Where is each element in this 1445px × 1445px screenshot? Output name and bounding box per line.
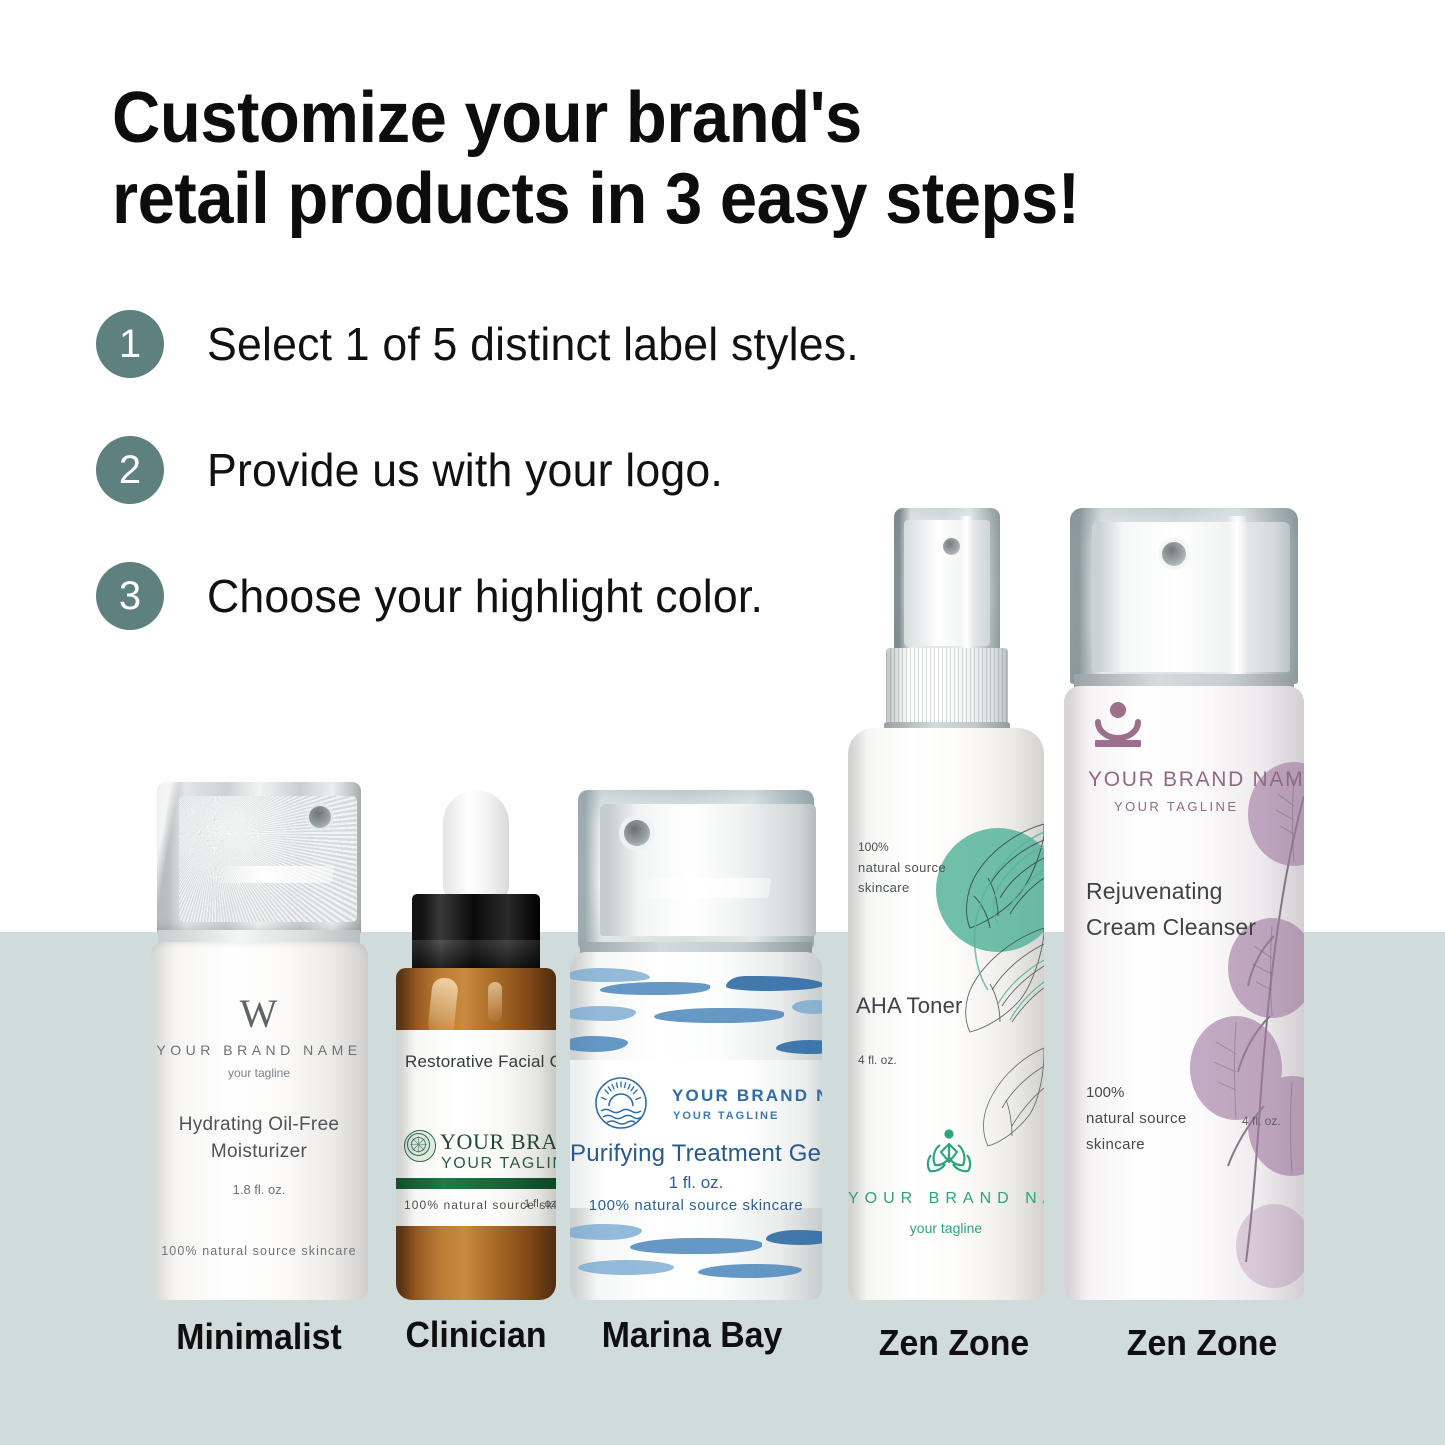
accent-bar (396, 1178, 556, 1189)
nozzle-icon (624, 820, 650, 846)
cap-highlight (1228, 516, 1246, 680)
product-name-line2: Moisturizer (150, 1141, 368, 1163)
claim: 100% natural source skincare (570, 1197, 822, 1214)
sunrise-over-waves-logo (594, 1076, 648, 1130)
brand-name: YOUR BRAND NAME (1088, 768, 1304, 792)
volume: 1 fl. oz. (570, 1173, 822, 1193)
caption-minimalist: Minimalist (176, 1316, 341, 1358)
wave-stroke (570, 1006, 636, 1021)
wave-stroke (698, 1264, 802, 1278)
zen-figure-logo (1088, 702, 1148, 750)
nozzle-icon (309, 806, 331, 828)
claim-line3: skincare (1086, 1136, 1145, 1153)
tagline: your tagline (150, 1066, 368, 1080)
caption-zen-zone: Zen Zone (1127, 1322, 1277, 1364)
wave-stroke (630, 1238, 762, 1254)
product-name-line1: Rejuvenating (1086, 878, 1223, 905)
cap-highlight (637, 878, 772, 898)
bottle-body: W YOUR BRAND NAME your tagline Hydrating… (150, 942, 368, 1300)
product-botanical[interactable]: 100% natural source skincare AHA Toner 4… (848, 508, 1044, 1300)
wave-stroke (570, 1036, 628, 1052)
label-panel: YOUR BRAND NAME YOUR TAGLINE Purifying T… (570, 1060, 822, 1208)
nozzle-icon (943, 538, 960, 555)
tagline: YOUR TAGLINE (673, 1110, 779, 1122)
tagline: YOUR TAGLINE (441, 1155, 556, 1173)
dropper-bulb (443, 790, 509, 902)
product-marina-bay[interactable]: YOUR BRAND NAME YOUR TAGLINE Purifying T… (566, 790, 826, 1300)
caption-clinician: Clinician (405, 1314, 546, 1356)
tagline: your tagline (848, 1220, 1044, 1236)
wave-stroke (654, 1008, 784, 1023)
volume: 4 fl. oz. (1242, 1114, 1281, 1128)
wave-stroke (726, 976, 822, 991)
claim-line2: natural source (1086, 1110, 1187, 1127)
caption-marina-bay: Marina Bay (602, 1314, 783, 1356)
label-paper: Restorative Facial Oil YOUR BRAND NAME Y… (396, 1030, 556, 1226)
circular-crest-logo (404, 1130, 436, 1162)
claim-line1: 100% (1086, 1084, 1124, 1101)
cap-highlight (960, 516, 972, 650)
wave-stroke (776, 1040, 822, 1054)
volume: 1 fl. oz. (524, 1198, 556, 1210)
pump-head (1092, 522, 1290, 672)
volume: 4 fl. oz. (858, 1053, 897, 1067)
wave-stroke (766, 1230, 822, 1245)
claim-line1: 100% (858, 840, 889, 854)
brand-name: YOUR BRAND NAME (672, 1086, 822, 1106)
glass-highlight (427, 977, 459, 1037)
ribbed-collar (886, 648, 1008, 726)
nozzle-icon (1162, 542, 1186, 566)
tagline: YOUR TAGLINE (1114, 799, 1238, 814)
caption-botanical: Zen Zone (879, 1322, 1029, 1364)
brand-name: YOUR BRAND NAME (150, 1042, 368, 1058)
product-minimalist[interactable]: W YOUR BRAND NAME your tagline Hydrating… (148, 782, 370, 1300)
clear-overcap (894, 508, 1000, 654)
glass-highlight-secondary (488, 982, 502, 1022)
clear-overcap (1070, 508, 1298, 684)
pump-cap (157, 782, 361, 934)
product-clinician[interactable]: Restorative Facial Oil YOUR BRAND NAME Y… (390, 790, 562, 1300)
product-name-line2: Cream Cleanser (1086, 914, 1256, 941)
wave-stroke (792, 1000, 822, 1014)
product-name-line1: AHA Toner (856, 993, 963, 1019)
cap-highlight (214, 866, 334, 883)
brand-name: YOUR BRAND NAME (848, 1190, 1044, 1208)
bottle-body: 100% natural source skincare AHA Toner 4… (848, 728, 1044, 1300)
bottle-body: Restorative Facial Oil YOUR BRAND NAME Y… (396, 968, 556, 1300)
bottle-body: YOUR BRAND NAME YOUR TAGLINE Rejuvenatin… (1064, 686, 1304, 1300)
product-name-line1: Hydrating Oil-Free (150, 1114, 368, 1136)
volume: 1.8 fl. oz. (150, 1182, 368, 1197)
wave-stroke (570, 968, 650, 982)
claim-line3: skincare (858, 880, 910, 895)
wave-stroke (578, 1260, 674, 1275)
product-name-line1: Restorative Facial Oil (405, 1052, 556, 1072)
product-name-line1: Purifying Treatment Gel (570, 1140, 822, 1168)
claim: 100% natural source skincare (150, 1244, 368, 1258)
pump-cap (578, 790, 814, 948)
wave-stroke (600, 982, 710, 995)
bottle-body: YOUR BRAND NAME YOUR TAGLINE Purifying T… (570, 952, 822, 1300)
claim-line2: natural source (858, 860, 946, 875)
product-zen-zone[interactable]: YOUR BRAND NAME YOUR TAGLINE Rejuvenatin… (1064, 508, 1304, 1300)
w-monogram-logo: W (150, 990, 368, 1037)
product-lineup: W YOUR BRAND NAME your tagline Hydrating… (0, 0, 1445, 1445)
promo-graphic: Customize your brand's retail products i… (0, 0, 1445, 1445)
wave-stroke (570, 1224, 642, 1240)
lotus-logo (922, 1128, 976, 1178)
brand-name: YOUR BRAND NAME (440, 1129, 556, 1155)
